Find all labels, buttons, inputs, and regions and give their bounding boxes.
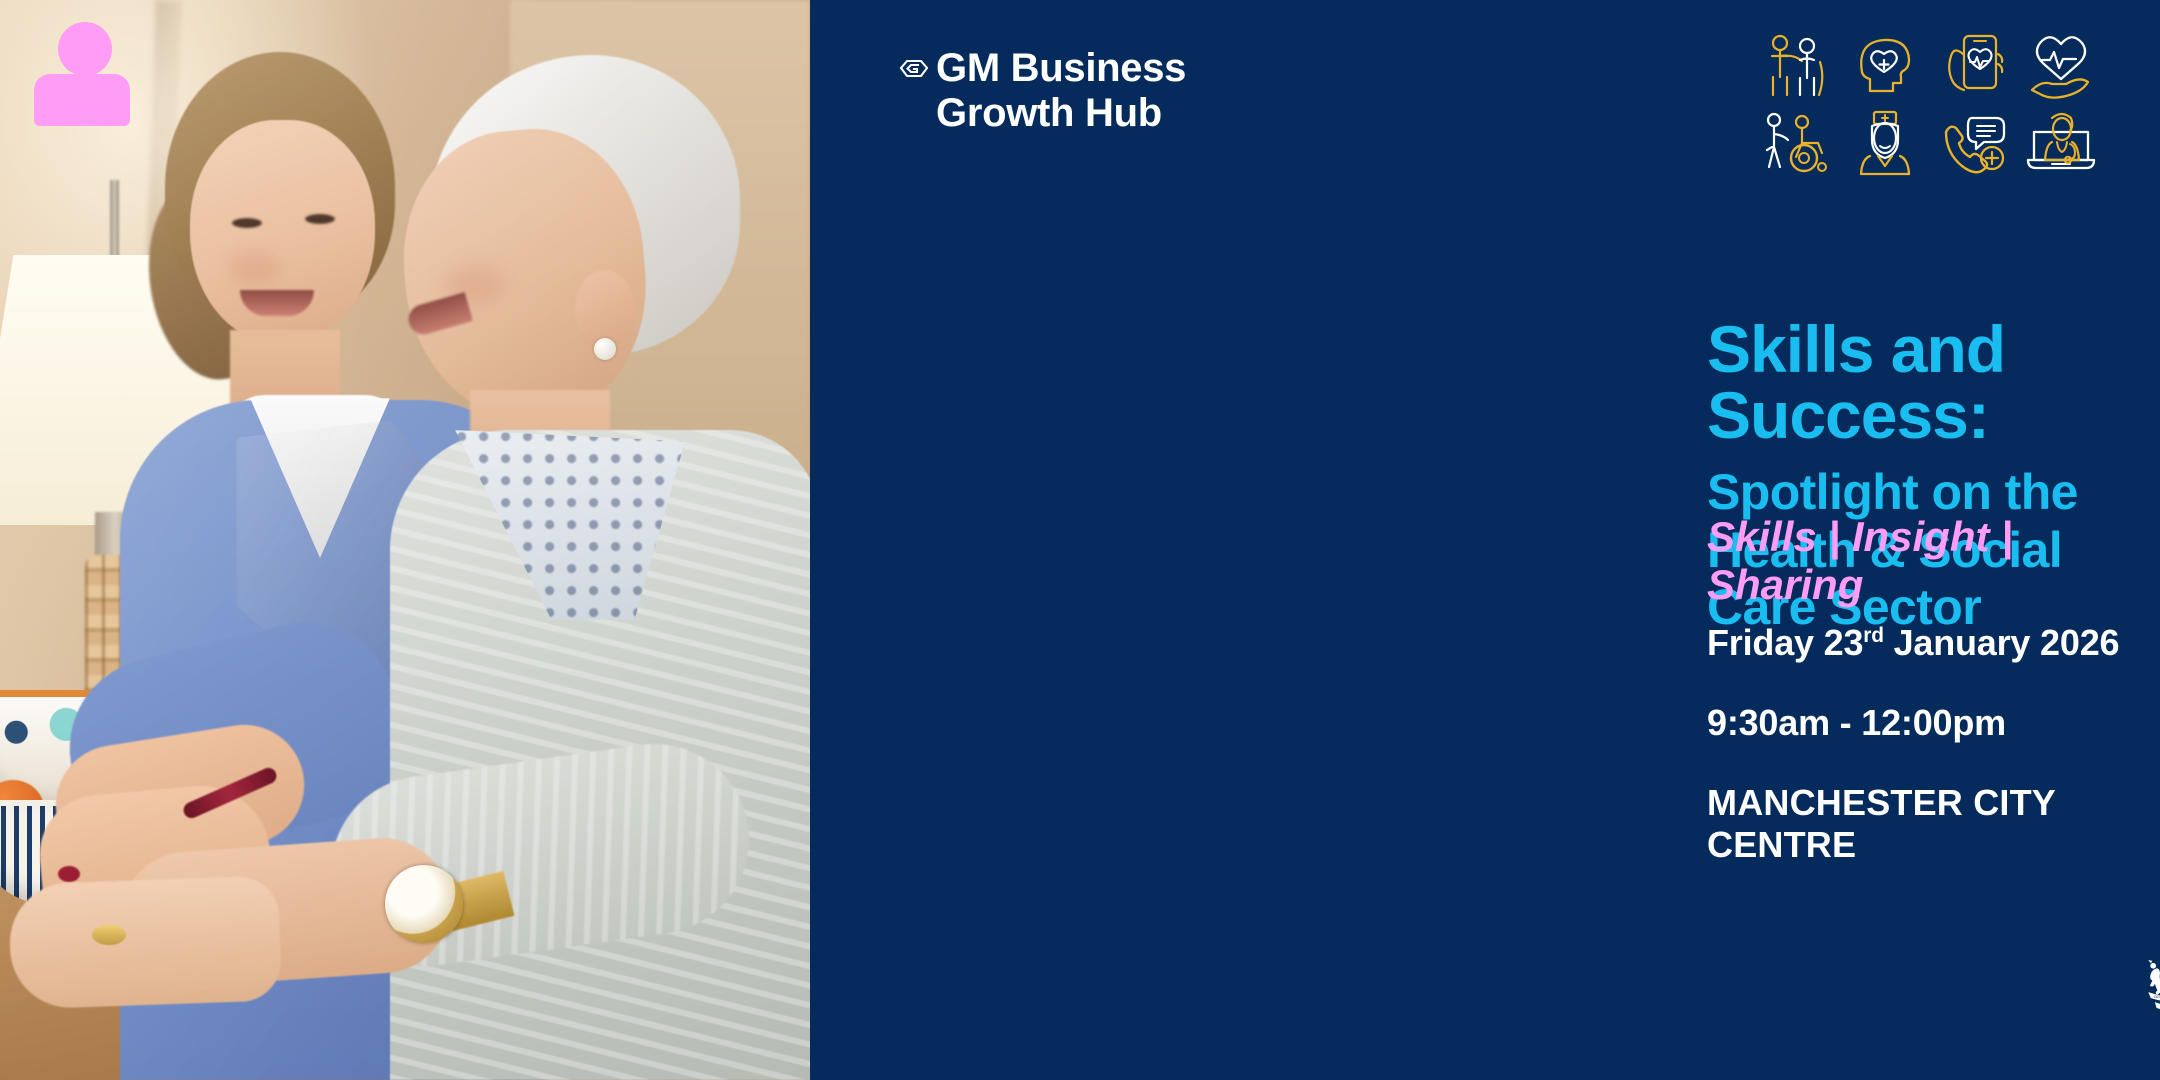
funded-by-uk-government-logo: DIEU ET MON DROIT HONI SOIT Funded by UK…: [2140, 931, 2160, 1048]
event-date-prefix: Friday 23: [1707, 622, 1863, 663]
elderly-woman-hand: [8, 875, 282, 1009]
royal-coat-of-arms-icon: DIEU ET MON DROIT HONI SOIT: [2140, 941, 2160, 1037]
brand-name: GM Business Growth Hub: [936, 46, 1186, 136]
carer-and-elderly-woman-photo: [0, 0, 810, 1080]
event-tagline: Skills | Insight | Sharing: [1707, 513, 2160, 609]
fingernail: [58, 866, 80, 882]
pearl-earring: [594, 338, 616, 360]
event-time: 9:30am - 12:00pm: [1707, 702, 2160, 744]
mental-health-head-heart-icon: [1848, 32, 1922, 100]
hexagon-g-icon: [898, 57, 928, 92]
health-social-care-icon-grid: [1760, 32, 2098, 178]
carer-supporting-person-icon: [1760, 32, 1834, 100]
event-date-suffix: January 2026: [1884, 622, 2120, 663]
wheelchair-assistance-icon: [1760, 110, 1834, 178]
event-date: Friday 23rd January 2026: [1707, 622, 2160, 664]
phone-support-chat-icon: [1936, 110, 2010, 178]
funder-logos: DIEU ET MON DROIT HONI SOIT Funded by UK…: [2140, 930, 2160, 1048]
event-date-ordinal: rd: [1863, 624, 1883, 647]
headline-line-1: Skills and Success:: [1707, 316, 2160, 448]
svg-text:DIEU ET MON DROIT: DIEU ET MON DROIT: [2154, 995, 2160, 999]
avatar-head: [58, 22, 112, 76]
telehealth-doctor-laptop-icon: [2024, 110, 2098, 178]
carer-eye-left: [232, 218, 262, 228]
gm-business-growth-hub-logo[interactable]: GM Business Growth Hub: [898, 46, 1186, 136]
elderly-woman-ear: [575, 270, 635, 348]
avatar-body: [34, 74, 130, 126]
carer-eye-right: [305, 214, 335, 224]
heart-in-hand-icon: [2024, 32, 2098, 100]
content-panel: GM Business Growth Hub: [810, 0, 2160, 1080]
nurse-icon: [1848, 110, 1922, 178]
gold-ring: [92, 925, 126, 945]
event-details: Friday 23rd January 2026 9:30am - 12:00p…: [1707, 622, 2160, 866]
person-avatar-icon: [34, 22, 130, 126]
event-venue: MANCHESTER CITY CENTRE: [1707, 782, 2160, 866]
mobile-health-app-icon: [1936, 32, 2010, 100]
event-promo-banner: GM Business Growth Hub: [0, 0, 2160, 1080]
carer-cheek: [228, 250, 280, 284]
